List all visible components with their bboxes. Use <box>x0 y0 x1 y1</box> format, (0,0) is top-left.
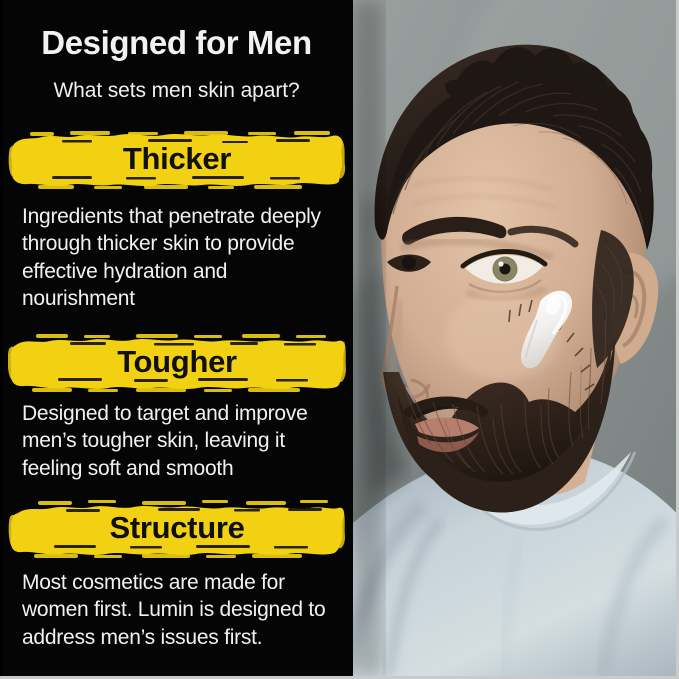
section-body-thicker: Ingredients that penetrate deeply throug… <box>22 203 342 312</box>
banner-label: Tougher <box>8 331 346 393</box>
banner-thicker: Thicker <box>8 128 346 190</box>
page-subtitle: What sets men skin apart? <box>0 79 353 103</box>
banner-label: Thicker <box>8 128 346 190</box>
page-title: Designed for Men <box>0 26 353 61</box>
copy-panel: Designed for Men What sets men skin apar… <box>0 0 353 679</box>
section-body-structure: Most cosmetics are made for women first.… <box>22 569 342 651</box>
hero-photo-illustration <box>353 0 676 676</box>
hero-photo <box>353 0 676 676</box>
left-edge-divider <box>0 0 2 679</box>
banner-tougher: Tougher <box>8 331 346 393</box>
product-infographic: Designed for Men What sets men skin apar… <box>0 0 679 679</box>
section-body-tougher: Designed to target and improve men’s tou… <box>22 400 342 482</box>
banner-label: Structure <box>8 497 346 559</box>
banner-structure: Structure <box>8 497 346 559</box>
